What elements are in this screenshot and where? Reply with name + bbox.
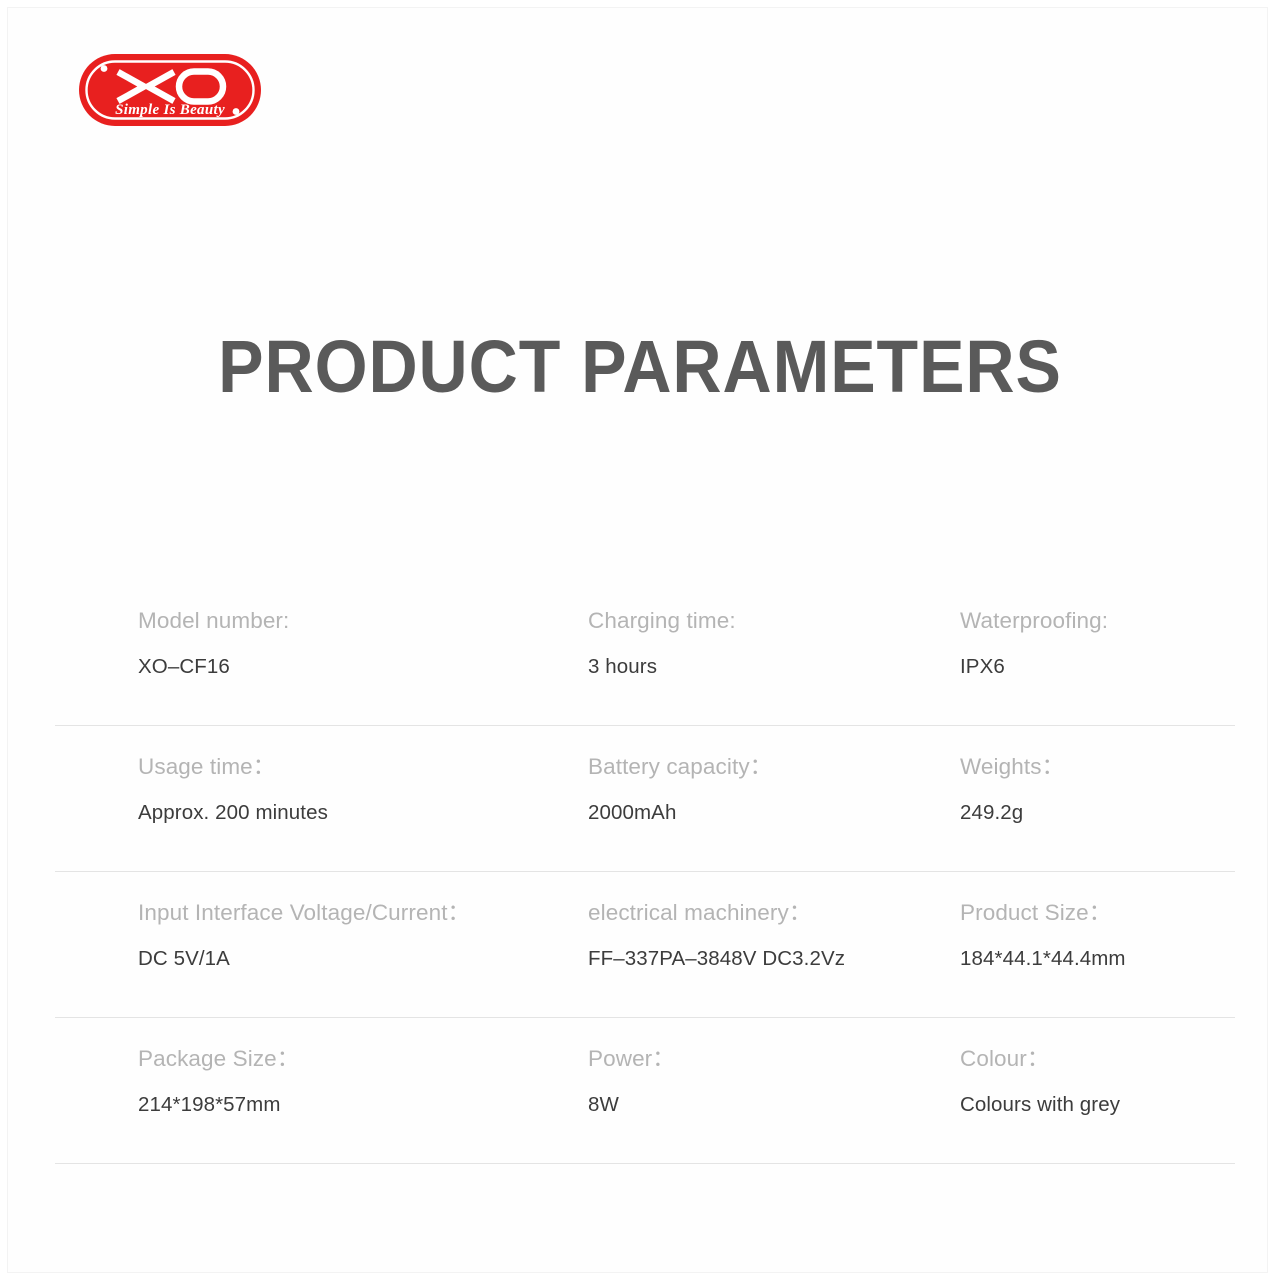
spec-value: 8W — [588, 1071, 675, 1116]
xo-logo: Simple Is Beauty — [78, 53, 262, 127]
spec-cell: Weights： 249.2g — [960, 726, 1064, 823]
spec-value: DC 5V/1A — [138, 925, 470, 970]
spec-cell: Usage time： Approx. 200 minutes — [138, 726, 328, 823]
spec-cell: Charging time: 3 hours — [588, 580, 736, 677]
spec-cell: Input Interface Voltage/Current： DC 5V/1… — [138, 872, 470, 969]
spec-value: IPX6 — [960, 633, 1108, 678]
spec-label: Usage time： — [138, 726, 328, 779]
table-row: Package Size： 214*198*57mm Power： 8W Col… — [55, 1018, 1235, 1164]
spec-cell: Waterproofing: IPX6 — [960, 580, 1108, 677]
spec-value: Approx. 200 minutes — [138, 779, 328, 824]
spec-value: 3 hours — [588, 633, 736, 678]
spec-cell: electrical machinery： FF–337PA–3848V DC3… — [588, 872, 845, 969]
spec-value: 214*198*57mm — [138, 1071, 299, 1116]
spec-value: XO–CF16 — [138, 633, 289, 678]
spec-label: Product Size： — [960, 872, 1126, 925]
table-row: Usage time： Approx. 200 minutes Battery … — [55, 726, 1235, 872]
spec-cell: Model number: XO–CF16 — [138, 580, 289, 677]
spec-value: FF–337PA–3848V DC3.2Vz — [588, 925, 845, 970]
xo-logo-graphic: Simple Is Beauty — [78, 53, 262, 127]
spec-cell: Battery capacity： 2000mAh — [588, 726, 772, 823]
spec-cell: Colour： Colours with grey — [960, 1018, 1120, 1115]
spec-cell: Product Size： 184*44.1*44.4mm — [960, 872, 1126, 969]
table-row: Input Interface Voltage/Current： DC 5V/1… — [55, 872, 1235, 1018]
spec-label: Power： — [588, 1018, 675, 1071]
product-parameters-page: Simple Is Beauty PRODUCT PARAMETERS Mode… — [0, 0, 1280, 1280]
spec-label: Waterproofing: — [960, 580, 1108, 633]
specifications-table: Model number: XO–CF16 Charging time: 3 h… — [55, 580, 1235, 1164]
spec-value: 184*44.1*44.4mm — [960, 925, 1126, 970]
spec-cell: Package Size： 214*198*57mm — [138, 1018, 299, 1115]
spec-label: Input Interface Voltage/Current： — [138, 872, 470, 925]
spec-label: Battery capacity： — [588, 726, 772, 779]
spec-value: 2000mAh — [588, 779, 772, 824]
spec-value: Colours with grey — [960, 1071, 1120, 1116]
spec-label: electrical machinery： — [588, 872, 845, 925]
spec-value: 249.2g — [960, 779, 1064, 824]
spec-label: Model number: — [138, 580, 289, 633]
spec-label: Colour： — [960, 1018, 1120, 1071]
spec-label: Weights： — [960, 726, 1064, 779]
spec-label: Charging time: — [588, 580, 736, 633]
table-row: Model number: XO–CF16 Charging time: 3 h… — [55, 580, 1235, 726]
page-title: PRODUCT PARAMETERS — [51, 330, 1229, 404]
svg-text:Simple Is Beauty: Simple Is Beauty — [115, 102, 225, 118]
spec-cell: Power： 8W — [588, 1018, 675, 1115]
spec-label: Package Size： — [138, 1018, 299, 1071]
